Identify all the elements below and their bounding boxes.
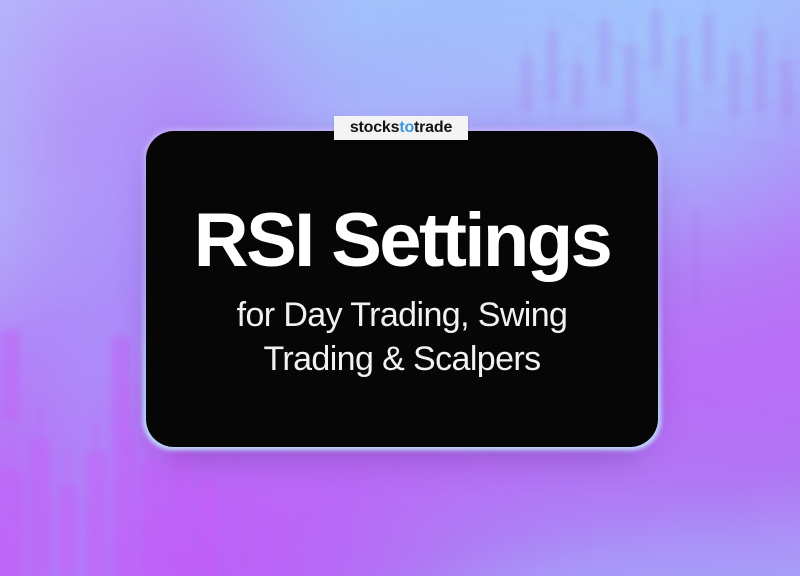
card-surface: RSI Settings for Day Trading, Swing Trad… xyxy=(146,131,658,447)
card-content: RSI Settings for Day Trading, Swing Trad… xyxy=(146,205,658,386)
brand-logo-text: stockstotrade xyxy=(350,120,452,136)
page-title: RSI Settings xyxy=(172,205,632,277)
brand-logo: stockstotrade xyxy=(334,116,468,140)
brand-logo-part-three: trade xyxy=(414,119,452,136)
page-subtitle-line-1: for Day Trading, Swing xyxy=(172,293,632,337)
brand-logo-part-two: to xyxy=(399,119,414,136)
page-subtitle: for Day Trading, Swing Trading & Scalper… xyxy=(172,293,632,381)
promo-graphic: RSI Settings for Day Trading, Swing Trad… xyxy=(0,0,800,576)
content-card: RSI Settings for Day Trading, Swing Trad… xyxy=(146,131,658,447)
page-subtitle-line-2: Trading & Scalpers xyxy=(172,337,632,381)
brand-logo-part-one: stocks xyxy=(350,119,400,136)
